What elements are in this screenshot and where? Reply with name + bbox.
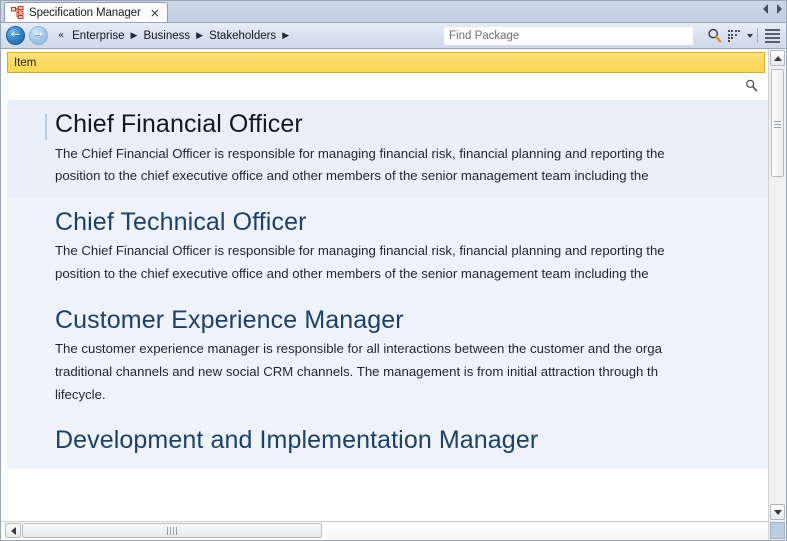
list-item-description: The Chief Financial Officer is responsib… [7,143,768,188]
breadcrumb-overflow[interactable]: « [58,30,64,41]
tab-navigation [763,4,782,14]
close-icon[interactable]: × [150,7,160,19]
horizontal-scrollbar[interactable] [1,521,768,540]
scroll-up-triangle [774,56,782,61]
forward-arrow-glyph: → [30,27,47,44]
horizontal-scroll-thumb[interactable] [22,523,322,538]
magnifier-icon[interactable] [745,79,758,97]
list-item-description: The customer experience manager is respo… [7,338,768,406]
specification-pane: Item Chief Financial Officer The Chief F… [1,49,768,540]
list-item-title: Chief Financial Officer [7,109,768,140]
hamburger-menu-icon[interactable] [762,25,782,46]
scroll-down-triangle [774,510,782,515]
magnifier-icon[interactable] [704,25,724,46]
scroll-up-arrow-icon[interactable] [770,50,785,66]
specification-manager-window: Specification Manager × ← → « Enterprise… [0,0,787,541]
triangle-right-icon[interactable] [777,4,782,14]
breadcrumb-item-business[interactable]: Business [143,30,190,42]
layout-grid-dots [728,30,741,41]
toolbar-right-group [704,23,782,48]
toolbar: ← → « Enterprise ▶ Business ▶ Stakeholde… [1,23,786,49]
row-search-bar[interactable] [7,73,768,100]
triangle-left-icon[interactable] [763,4,768,14]
toolbar-separator [757,28,758,43]
vertical-scroll-thumb[interactable] [771,69,784,177]
back-arrow-glyph: ← [7,27,24,44]
chevron-down-icon[interactable] [747,34,753,38]
horizontal-scroll-track[interactable] [325,522,768,540]
tab-strip: Specification Manager × [1,1,786,23]
layout-grid-icon[interactable] [724,25,744,46]
tab-label: Specification Manager [29,7,141,19]
back-arrow-icon[interactable]: ← [6,26,25,45]
scroll-left-arrow-icon[interactable] [5,523,21,538]
column-header-item[interactable]: Item [7,52,765,73]
list-item-description: The Chief Financial Officer is responsib… [7,240,768,285]
item-accent-bar [45,114,47,140]
list-item-title: Development and Implementation Manager [7,425,768,456]
list-item[interactable]: Chief Financial Officer The Chief Financ… [7,100,768,198]
list-item-title: Customer Experience Manager [7,305,768,336]
list-item[interactable]: Chief Technical Officer The Chief Financ… [7,198,768,296]
breadcrumb-separator-2: ▶ [196,31,203,41]
list-item[interactable]: Customer Experience Manager The customer… [7,296,768,417]
content-area: Item Chief Financial Officer The Chief F… [1,49,786,540]
list-item-title: Chief Technical Officer [7,207,768,238]
scroll-thumb-grip [774,119,781,130]
specification-list[interactable]: Chief Financial Officer The Chief Financ… [7,100,768,521]
hierarchy-icon [11,6,24,19]
breadcrumb-separator-3[interactable]: ▶ [282,31,289,41]
scroll-left-triangle [11,527,16,535]
hamburger-lines [765,27,780,45]
breadcrumb-item-stakeholders[interactable]: Stakeholders [209,30,276,42]
breadcrumb-item-enterprise[interactable]: Enterprise [72,30,124,42]
scrollbar-corner [770,522,785,539]
column-header-label: Item [14,57,36,69]
scroll-down-arrow-icon[interactable] [770,504,785,520]
find-package-wrapper [444,26,693,44]
list-item[interactable]: Development and Implementation Manager [7,416,768,469]
scroll-thumb-grip [167,527,177,535]
forward-arrow-icon[interactable]: → [29,26,48,45]
find-package-input[interactable] [444,27,693,45]
vertical-scrollbar[interactable] [768,49,786,540]
breadcrumb-separator-1: ▶ [131,31,138,41]
breadcrumb: « Enterprise ▶ Business ▶ Stakeholders ▶ [58,30,295,42]
tab-specification-manager[interactable]: Specification Manager × [4,2,168,22]
